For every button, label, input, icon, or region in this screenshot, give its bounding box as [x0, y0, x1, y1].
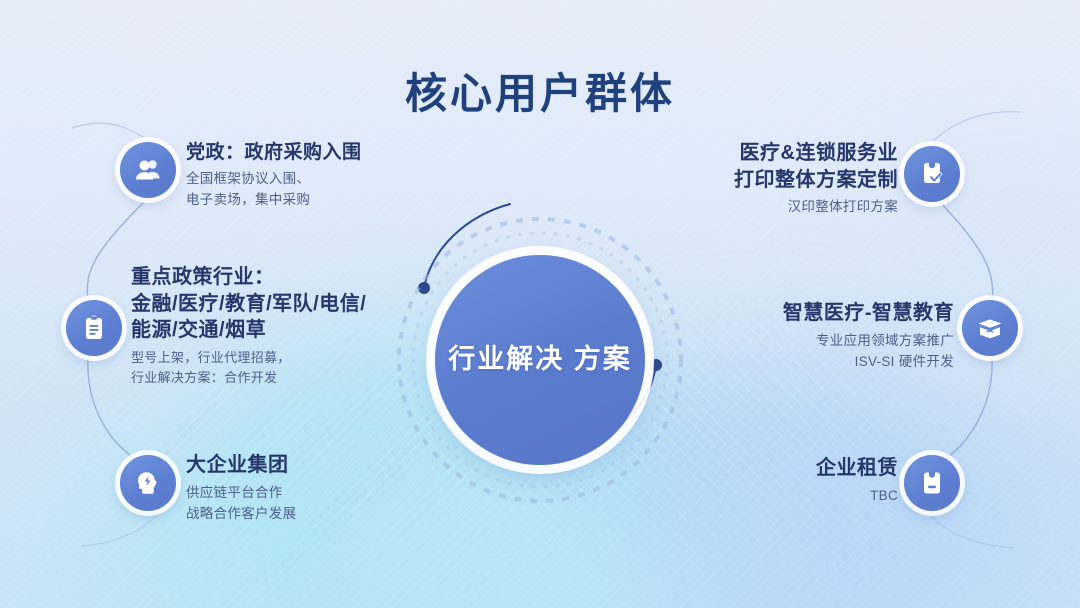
node-heading: 智慧医疗-智慧教育 [676, 300, 954, 327]
node-heading: 党政：政府采购入围 [186, 140, 486, 165]
node-subtext: 专业应用领域方案推广 ISV-SI 硬件开发 [676, 331, 954, 373]
node-subtext: 供应链平台合作 战略合作客户发展 [186, 483, 486, 525]
node-heading: 大企业集团 [186, 452, 486, 479]
open-box-icon[interactable] [962, 300, 1018, 356]
brain-head-icon[interactable] [120, 455, 176, 511]
node-subtext: 型号上架，行业代理招募， 行业解决方案：合作开发 [131, 348, 461, 388]
page-title: 核心用户群体 [0, 60, 1080, 121]
clipboard-check-icon[interactable] [904, 146, 960, 202]
node-subtext: TBC [660, 486, 898, 507]
node-subtext: 全国框架协议入围、 电子卖场，集中采购 [186, 169, 486, 211]
document-bag-icon[interactable] [904, 455, 960, 511]
clipboard-icon[interactable] [66, 300, 122, 356]
node-heading: 重点政策行业： 金融/医疗/教育/军队/电信/ 能源/交通/烟草 [131, 264, 461, 344]
node-heading: 医疗&连锁服务业 打印整体方案定制 [620, 140, 898, 193]
node-heading: 企业租赁 [660, 455, 898, 482]
users-icon[interactable] [120, 142, 176, 198]
node-subtext: 汉印整体打印方案 [620, 197, 898, 218]
slide-canvas: 核心用户群体 行业解决 方案 [0, 0, 1080, 608]
center-label: 行业解决 方案 [448, 341, 632, 378]
center-circle: 行业解决 方案 [435, 255, 645, 465]
